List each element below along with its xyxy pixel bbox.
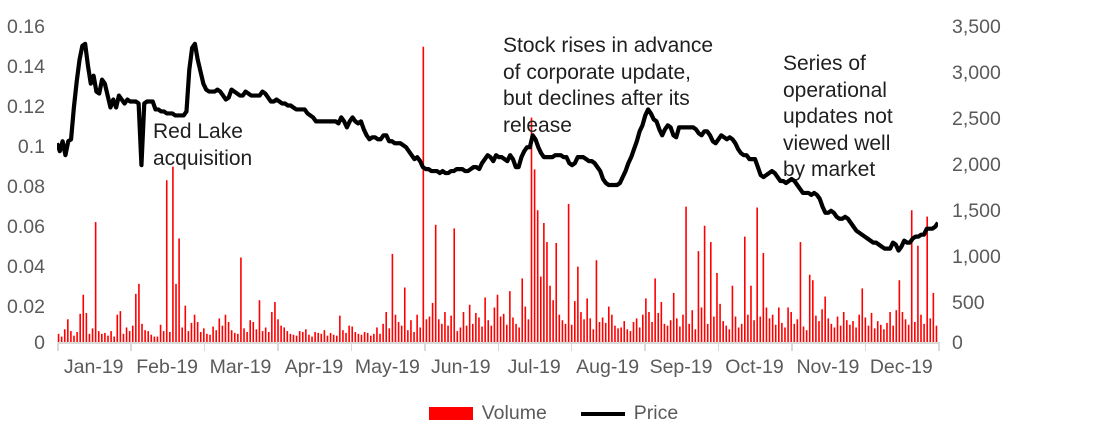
volume-bar	[101, 334, 103, 342]
volume-bar	[766, 307, 768, 342]
volume-bar	[123, 334, 125, 342]
y-left-tick-label: 0	[34, 334, 45, 354]
x-axis-tick	[204, 342, 206, 351]
volume-bar	[846, 320, 848, 342]
volume-bar	[599, 322, 601, 342]
volume-bar	[868, 326, 870, 342]
volume-bar	[358, 334, 360, 342]
volume-bar	[778, 307, 780, 342]
x-axis-tick	[130, 342, 132, 351]
volume-bar	[725, 326, 727, 342]
volume-bar	[871, 313, 873, 342]
volume-bar	[333, 335, 335, 342]
volume-bar	[484, 297, 486, 342]
y-left-tick-label: 0.1	[18, 138, 45, 158]
volume-bar	[627, 329, 629, 342]
volume-bar	[645, 298, 647, 342]
volume-bar	[732, 286, 734, 342]
volume-bar	[772, 315, 774, 342]
volume-bar	[178, 238, 180, 342]
volume-bar	[392, 254, 394, 342]
y-left-tick-label: 0.06	[7, 218, 45, 238]
volume-bar	[923, 324, 925, 342]
volume-bar	[478, 317, 480, 342]
volume-bar	[150, 335, 152, 342]
volume-bar	[364, 332, 366, 342]
volume-bar	[481, 327, 483, 342]
volume-bar	[661, 302, 663, 342]
volume-bar	[735, 317, 737, 342]
volume-bar	[355, 332, 357, 342]
volume-bar	[899, 280, 901, 342]
volume-bar	[895, 310, 897, 342]
volume-bar	[682, 315, 684, 342]
volume-bar	[268, 332, 270, 342]
volume-bar	[781, 323, 783, 342]
volume-bar	[503, 314, 505, 342]
volume-bar	[809, 275, 811, 342]
y-right-tick-label: 0	[952, 334, 963, 354]
volume-bar	[209, 335, 211, 342]
volume-bar	[667, 326, 669, 342]
chart-legend: Volume Price	[0, 404, 1107, 424]
volume-bar	[759, 317, 761, 342]
volume-bar	[116, 315, 118, 342]
x-axis-tick	[57, 342, 59, 351]
volume-bar	[188, 331, 190, 342]
volume-bar	[129, 331, 131, 342]
volume-bar	[389, 328, 391, 342]
volume-bar	[688, 324, 690, 342]
volume-bar	[713, 317, 715, 342]
volume-bar	[447, 326, 449, 342]
volume-bar	[840, 326, 842, 342]
volume-bar	[540, 277, 542, 342]
x-axis-tick	[938, 342, 940, 351]
volume-bar	[135, 294, 137, 342]
volume-bar	[487, 320, 489, 342]
volume-bar	[914, 322, 916, 342]
volume-bar	[175, 284, 177, 342]
volume-bar	[423, 47, 425, 342]
volume-bar	[308, 335, 310, 342]
volume-bar	[537, 210, 539, 342]
volume-bar	[861, 288, 863, 342]
y-right-tick-label: 1,500	[952, 202, 1001, 222]
x-axis-tick	[865, 342, 867, 351]
volume-bar	[880, 325, 882, 342]
volume-bar	[249, 320, 251, 342]
volume-bar	[290, 334, 292, 342]
volume-bar	[64, 329, 66, 342]
volume-bar	[747, 315, 749, 342]
volume-bar	[886, 323, 888, 342]
volume-bar	[750, 286, 752, 342]
y-right-tick-label: 2,500	[952, 110, 1001, 130]
volume-bar	[104, 333, 106, 342]
volume-bar	[806, 330, 808, 342]
volume-bar	[515, 324, 517, 342]
volume-bar	[222, 326, 224, 342]
volume-bar	[287, 331, 289, 342]
volume-bar	[803, 327, 805, 342]
volume-bar	[852, 321, 854, 342]
volume-bar	[274, 302, 276, 342]
volume-bar	[531, 118, 533, 342]
volume-bar	[506, 325, 508, 342]
volume-bar	[457, 331, 459, 342]
y-left-tick-label: 0.12	[7, 98, 45, 118]
volume-bar	[339, 316, 341, 342]
volume-bar	[883, 329, 885, 342]
legend-label-volume: Volume	[482, 404, 547, 424]
volume-bar	[701, 307, 703, 342]
legend-entry-volume: Volume	[429, 404, 547, 424]
volume-bar	[262, 331, 264, 342]
volume-bar	[741, 324, 743, 342]
x-axis-tick	[277, 342, 279, 351]
y-right-tick-label: 2,000	[952, 156, 1001, 176]
volume-bar	[716, 273, 718, 342]
volume-bar	[648, 312, 650, 342]
volume-bar	[908, 325, 910, 342]
volume-bar	[605, 323, 607, 342]
y-left-tick-label: 0.14	[7, 58, 45, 78]
volume-bar	[639, 327, 641, 342]
volume-bar	[317, 333, 319, 342]
volume-bar	[929, 318, 931, 342]
volume-bar	[849, 325, 851, 342]
volume-bar	[212, 327, 214, 342]
volume-bar	[642, 315, 644, 342]
volume-bar	[321, 334, 323, 342]
volume-bar	[722, 321, 724, 342]
volume-bar	[596, 260, 598, 342]
volume-bar	[583, 319, 585, 342]
volume-bar	[351, 327, 353, 342]
volume-bar	[280, 326, 282, 342]
volume-bar	[147, 331, 149, 342]
y-left-tick-label: 0.08	[7, 178, 45, 198]
volume-bar	[453, 228, 455, 342]
volume-bar	[404, 287, 406, 342]
volume-bar	[240, 258, 242, 343]
volume-bar	[509, 291, 511, 342]
volume-bar	[710, 242, 712, 342]
y-right-tick-label: 500	[952, 294, 985, 314]
volume-bar	[215, 330, 217, 342]
volume-bar	[837, 317, 839, 342]
volume-bar	[917, 246, 919, 342]
volume-bar	[620, 327, 622, 342]
volume-bar	[902, 312, 904, 342]
volume-bar	[348, 326, 350, 342]
volume-bar	[793, 324, 795, 342]
y-right-tick-label: 1,000	[952, 248, 1001, 268]
volume-bar	[608, 307, 610, 342]
volume-bar	[163, 331, 165, 342]
volume-bar	[905, 319, 907, 342]
volume-bar	[92, 328, 94, 342]
volume-bar	[206, 334, 208, 342]
volume-bar	[191, 323, 193, 342]
volume-swatch-icon	[429, 407, 473, 420]
volume-bar	[416, 315, 418, 342]
annotation-operational-updates: Series of operational updates not viewed…	[783, 51, 893, 184]
volume-bar	[256, 329, 258, 342]
volume-bar	[568, 204, 570, 342]
volume-bar	[670, 320, 672, 342]
volume-bar	[231, 330, 233, 342]
volume-bar	[679, 327, 681, 342]
volume-bar	[444, 312, 446, 342]
volume-bar	[559, 315, 561, 342]
volume-bar	[82, 295, 84, 342]
volume-bar	[865, 317, 867, 342]
volume-bar	[330, 333, 332, 342]
volume-bar	[738, 327, 740, 342]
volume-bar	[460, 327, 462, 342]
volume-bar	[812, 280, 814, 342]
volume-bar	[821, 309, 823, 342]
volume-bar	[614, 326, 616, 342]
y-right-tick-label: 3,500	[952, 18, 1001, 38]
volume-bar	[429, 317, 431, 342]
volume-bar	[438, 319, 440, 342]
volume-bar	[562, 320, 564, 342]
volume-bar	[373, 334, 375, 342]
volume-bar	[858, 315, 860, 342]
volume-bar	[636, 318, 638, 342]
volume-bar	[225, 315, 227, 342]
volume-bar	[790, 312, 792, 342]
volume-bar	[729, 329, 731, 342]
volume-bar	[518, 327, 520, 342]
volume-bar	[138, 284, 140, 342]
volume-bar	[623, 321, 625, 342]
volume-bar	[602, 317, 604, 342]
volume-bar	[259, 300, 261, 342]
volume-bar	[277, 319, 279, 342]
volume-bar	[756, 208, 758, 342]
volume-bar	[469, 305, 471, 342]
volume-bar	[574, 301, 576, 342]
volume-bar	[920, 315, 922, 342]
volume-bar	[67, 319, 69, 342]
volume-bar	[695, 329, 697, 342]
volume-bar	[577, 267, 579, 342]
volume-bar	[95, 222, 97, 342]
volume-bar	[552, 300, 554, 342]
volume-bar	[685, 207, 687, 342]
volume-bar	[664, 324, 666, 342]
volume-bar	[79, 314, 81, 342]
volume-bar	[831, 324, 833, 342]
volume-bar	[246, 332, 248, 342]
volume-bar	[797, 319, 799, 342]
x-axis-tick	[351, 342, 353, 351]
volume-bar	[744, 237, 746, 342]
volume-bar	[889, 312, 891, 342]
volume-bar	[419, 327, 421, 342]
volume-bar	[827, 318, 829, 342]
volume-bar	[141, 324, 143, 342]
volume-bar	[589, 318, 591, 342]
volume-bar	[98, 331, 100, 342]
volume-bar	[586, 298, 588, 342]
volume-bar	[593, 329, 595, 342]
volume-bar	[234, 333, 236, 342]
volume-bar	[775, 325, 777, 342]
volume-bar	[818, 321, 820, 342]
volume-bar	[753, 320, 755, 342]
volume-bar	[784, 327, 786, 342]
volume-bar	[200, 332, 202, 342]
volume-bar	[160, 325, 162, 342]
volume-bar	[926, 217, 928, 342]
volume-bar	[525, 307, 527, 342]
volume-bar	[342, 330, 344, 342]
volume-bar	[450, 316, 452, 342]
volume-bar	[843, 312, 845, 342]
volume-bar	[197, 322, 199, 342]
volume-bar	[228, 322, 230, 342]
y-right-tick-label: 3,000	[952, 64, 1001, 84]
volume-bar	[769, 318, 771, 342]
volume-bar	[824, 297, 826, 342]
volume-bar	[299, 331, 301, 342]
volume-bar	[546, 242, 548, 342]
price-swatch-icon	[581, 412, 625, 416]
volume-bar	[874, 328, 876, 342]
volume-bar	[497, 295, 499, 342]
volume-bar	[194, 315, 196, 342]
volume-bar	[691, 310, 693, 342]
x-axis-tick	[718, 342, 720, 351]
volume-bar	[413, 332, 415, 342]
volume-bar	[611, 315, 613, 342]
volume-bar	[120, 311, 122, 342]
volume-bar	[571, 325, 573, 342]
volume-bar	[892, 326, 894, 342]
volume-bar	[361, 335, 363, 342]
volume-bar	[630, 331, 632, 342]
volume-bar	[144, 330, 146, 342]
x-axis-tick-label: Dec-19	[846, 358, 956, 378]
volume-bar	[494, 307, 496, 342]
volume-bar	[719, 304, 721, 342]
volume-bar	[491, 326, 493, 342]
volume-bar	[252, 322, 254, 342]
volume-bar	[218, 318, 220, 342]
volume-bar	[936, 326, 938, 342]
volume-bar	[676, 318, 678, 342]
volume-bar	[181, 327, 183, 342]
y-left-tick-label: 0.16	[7, 18, 45, 38]
volume-bar	[385, 312, 387, 342]
volume-bar	[877, 321, 879, 342]
volume-bar	[86, 313, 88, 342]
volume-bar	[657, 313, 659, 342]
volume-bar	[382, 324, 384, 342]
volume-bar	[184, 306, 186, 342]
volume-bar	[132, 326, 134, 342]
volume-bar	[617, 328, 619, 342]
volume-bar	[549, 286, 551, 342]
x-axis-tick	[424, 342, 426, 351]
volume-bar	[933, 293, 935, 342]
volume-bar	[441, 324, 443, 342]
volume-bar	[426, 319, 428, 342]
volume-bar	[475, 313, 477, 342]
volume-bar	[651, 322, 653, 342]
volume-bar	[379, 334, 381, 342]
volume-bar	[855, 327, 857, 342]
volume-bar	[407, 330, 409, 342]
legend-entry-price: Price	[581, 404, 678, 424]
volume-bar	[580, 312, 582, 342]
volume-bar	[704, 226, 706, 342]
volume-bar	[911, 210, 913, 342]
volume-bar	[166, 180, 168, 342]
volume-bar	[324, 330, 326, 342]
volume-bar	[89, 334, 91, 342]
volume-bar	[283, 327, 285, 342]
volume-bar	[305, 329, 307, 342]
volume-bar	[565, 324, 567, 342]
volume-bar	[707, 324, 709, 342]
volume-bar	[237, 334, 239, 342]
legend-label-price: Price	[634, 404, 678, 424]
volume-bar	[345, 333, 347, 342]
volume-bar	[367, 333, 369, 342]
stock-price-volume-chart: 0.16 0.14 0.12 0.1 0.08 0.06 0.04 0.02 0…	[0, 0, 1107, 447]
volume-bar	[528, 319, 530, 342]
volume-bar	[58, 334, 60, 342]
volume-bar	[512, 317, 514, 342]
volume-bar	[302, 332, 304, 342]
volume-bar	[110, 331, 112, 342]
x-axis-tick	[791, 342, 793, 351]
volume-bar	[410, 320, 412, 342]
y-left-tick-label: 0.04	[7, 258, 45, 278]
volume-bar	[435, 225, 437, 342]
volume-bar	[654, 278, 656, 342]
x-axis-tick	[644, 342, 646, 351]
volume-bar	[395, 315, 397, 342]
volume-bar	[398, 322, 400, 342]
volume-bar	[126, 327, 128, 342]
volume-bar	[815, 316, 817, 342]
volume-bar	[834, 327, 836, 342]
volume-bar	[673, 293, 675, 342]
y-left-tick-label: 0.02	[7, 298, 45, 318]
volume-bar	[76, 332, 78, 342]
volume-bar	[534, 169, 536, 342]
x-axis-tick	[571, 342, 573, 351]
volume-bar	[466, 326, 468, 342]
volume-bar	[70, 331, 72, 342]
volume-bar	[265, 327, 267, 342]
volume-bar	[521, 278, 523, 342]
annotation-red-lake: Red Lake acquisition	[153, 119, 252, 172]
annotation-corporate-update: Stock rises in advance of corporate upda…	[503, 33, 713, 139]
volume-bar	[763, 253, 765, 342]
volume-bar	[472, 324, 474, 342]
volume-bar	[203, 328, 205, 342]
volume-bar	[432, 303, 434, 342]
volume-bar	[787, 307, 789, 342]
